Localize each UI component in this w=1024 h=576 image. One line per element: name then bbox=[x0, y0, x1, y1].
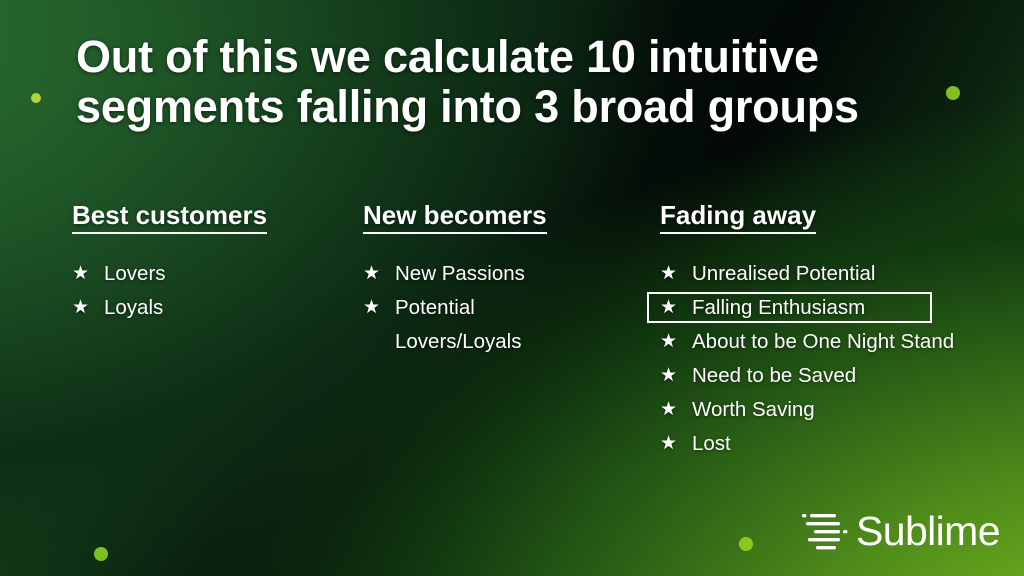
star-bullet-icon: ★ bbox=[363, 291, 395, 325]
list-item-label: Potential Lovers/Loyals bbox=[395, 291, 643, 359]
column-heading: Best customers bbox=[72, 200, 267, 234]
list-item[interactable]: ★New Passions bbox=[363, 257, 643, 291]
star-bullet-icon: ★ bbox=[660, 393, 692, 427]
column-item-list: ★Unrealised Potential★Falling Enthusiasm… bbox=[660, 257, 1024, 461]
column-item-list: ★Lovers★Loyals bbox=[72, 257, 352, 325]
column-best-customers: Best customers ★Lovers★Loyals bbox=[72, 200, 352, 325]
list-item-label: Falling Enthusiasm bbox=[692, 291, 1024, 325]
star-bullet-icon: ★ bbox=[660, 359, 692, 393]
column-heading: Fading away bbox=[660, 200, 816, 234]
column-new-becomers: New becomers ★New Passions★Potential Lov… bbox=[363, 200, 643, 359]
star-bullet-icon: ★ bbox=[72, 291, 104, 325]
slide-canvas: Out of this we calculate 10 intuitiveseg… bbox=[0, 0, 1024, 576]
list-item-label: Lovers bbox=[104, 257, 352, 291]
list-item-label: Need to be Saved bbox=[692, 359, 1024, 393]
star-bullet-icon: ★ bbox=[660, 325, 692, 359]
star-bullet-icon: ★ bbox=[660, 257, 692, 291]
column-fading-away: Fading away ★Unrealised Potential★Fallin… bbox=[660, 200, 1024, 461]
column-item-list: ★New Passions★Potential Lovers/Loyals bbox=[363, 257, 643, 359]
page-title-line: Out of this we calculate 10 intuitive bbox=[76, 32, 956, 82]
list-item[interactable]: ★Potential Lovers/Loyals bbox=[363, 291, 643, 359]
decorative-dot bbox=[739, 537, 753, 551]
list-item-label: Loyals bbox=[104, 291, 352, 325]
list-item[interactable]: ★Worth Saving bbox=[660, 393, 1024, 427]
list-item[interactable]: ★Unrealised Potential bbox=[660, 257, 1024, 291]
list-item[interactable]: ★About to be One Night Stand bbox=[660, 325, 1024, 359]
list-item[interactable]: ★Lovers bbox=[72, 257, 352, 291]
star-bullet-icon: ★ bbox=[363, 257, 395, 291]
star-bullet-icon: ★ bbox=[72, 257, 104, 291]
list-item-label: About to be One Night Stand bbox=[692, 325, 1024, 359]
list-item-label: Unrealised Potential bbox=[692, 257, 1024, 291]
logo-wordmark: Sublime bbox=[856, 509, 1000, 553]
list-item[interactable]: ★Lost bbox=[660, 427, 1024, 461]
list-item[interactable]: ★Need to be Saved bbox=[660, 359, 1024, 393]
list-item-label: Lost bbox=[692, 427, 1024, 461]
sublime-logo: Sublime bbox=[800, 506, 1000, 556]
decorative-dot bbox=[94, 547, 108, 561]
stacked-lines-icon bbox=[800, 510, 852, 552]
star-bullet-icon: ★ bbox=[660, 427, 692, 461]
list-item-label: Worth Saving bbox=[692, 393, 1024, 427]
list-item[interactable]: ★Loyals bbox=[72, 291, 352, 325]
page-title-line: segments falling into 3 broad groups bbox=[76, 82, 956, 132]
page-title: Out of this we calculate 10 intuitiveseg… bbox=[76, 32, 956, 132]
column-heading: New becomers bbox=[363, 200, 547, 234]
list-item-label: New Passions bbox=[395, 257, 643, 291]
decorative-dot bbox=[31, 93, 41, 103]
star-bullet-icon: ★ bbox=[660, 291, 692, 325]
list-item-highlighted[interactable]: ★Falling Enthusiasm bbox=[660, 291, 1024, 325]
